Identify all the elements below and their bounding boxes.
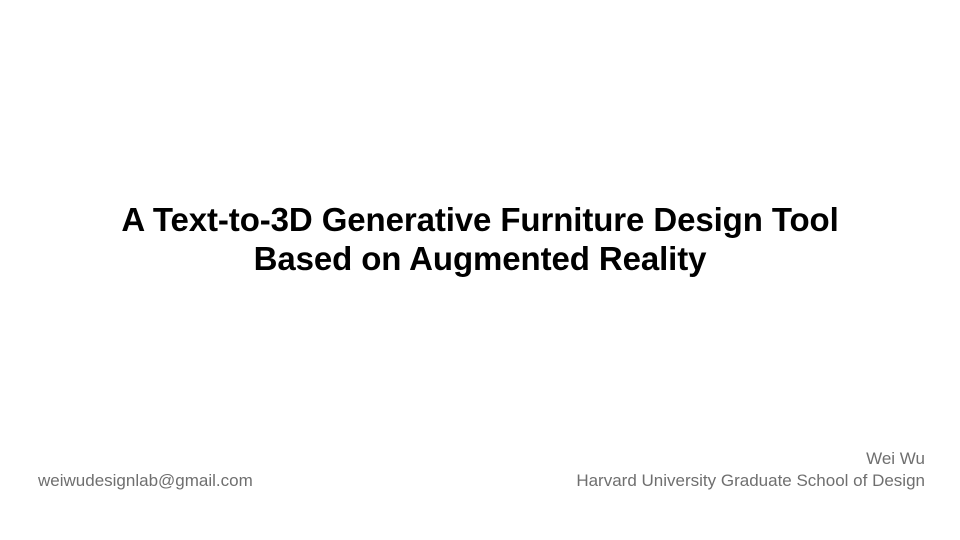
author-affiliation: Harvard University Graduate School of De…	[576, 470, 925, 492]
contact-email: weiwudesignlab@gmail.com	[38, 470, 253, 492]
title-line-2: Based on Augmented Reality	[0, 239, 960, 278]
title-slide: A Text-to-3D Generative Furniture Design…	[0, 0, 960, 540]
author-block: Wei Wu Harvard University Graduate Schoo…	[576, 448, 925, 492]
page-title: A Text-to-3D Generative Furniture Design…	[0, 200, 960, 278]
author-name: Wei Wu	[576, 448, 925, 470]
title-line-1: A Text-to-3D Generative Furniture Design…	[0, 200, 960, 239]
